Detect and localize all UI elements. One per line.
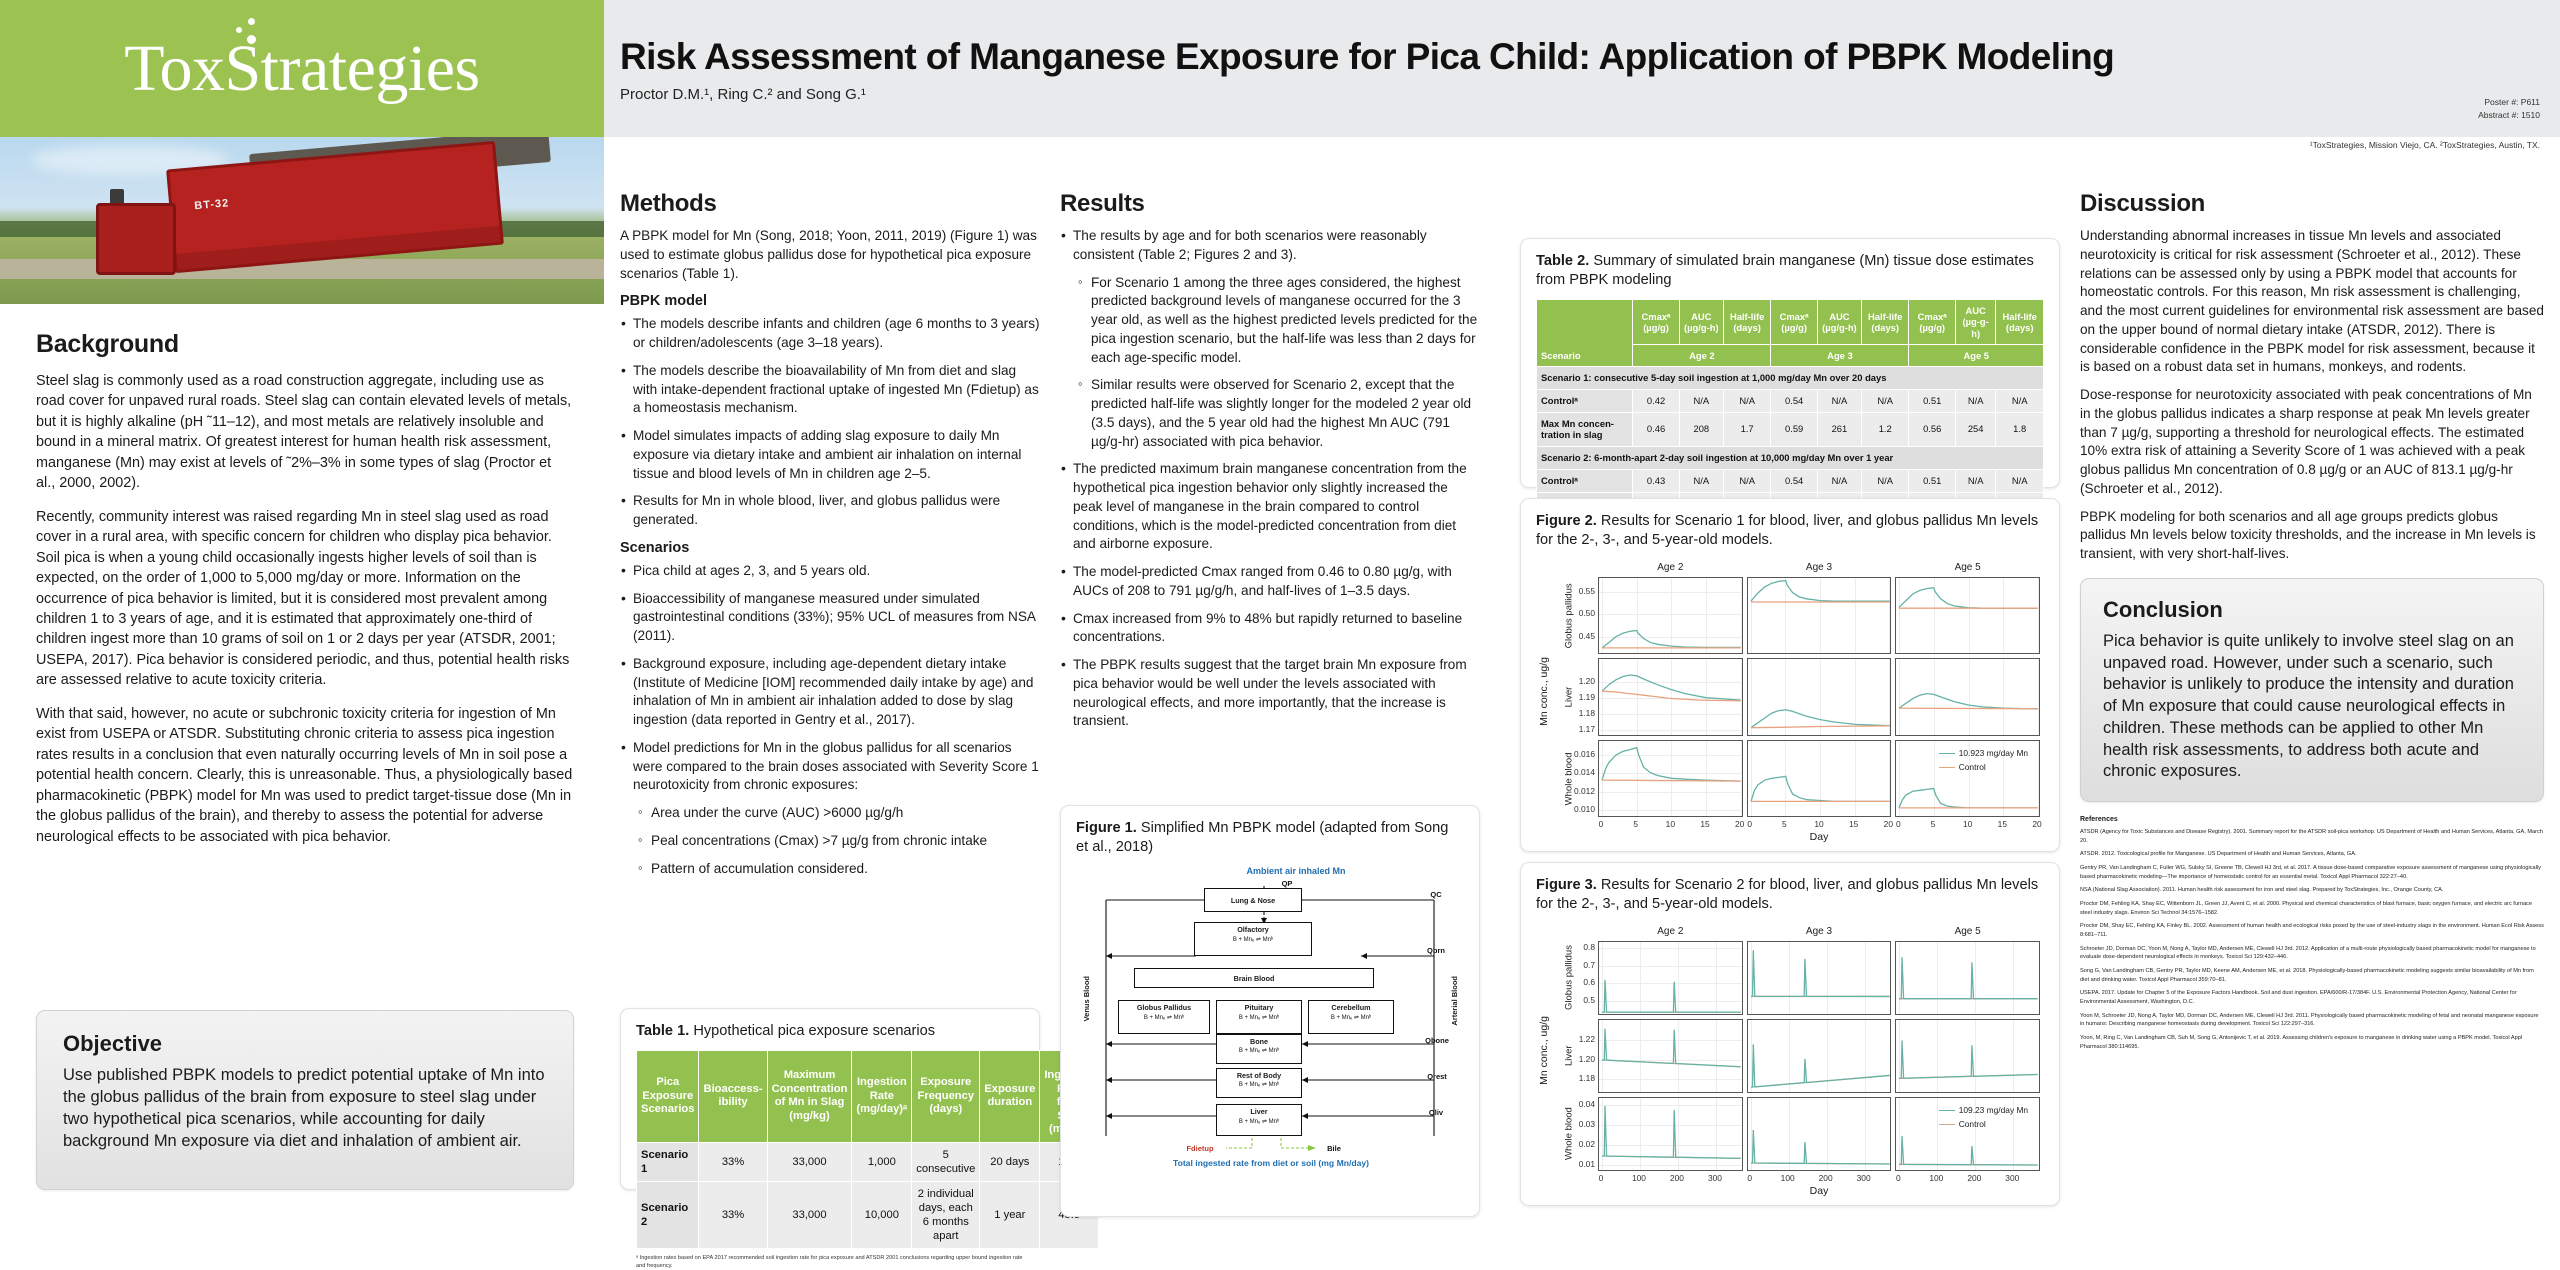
table2-caption: Table 2. Summary of simulated brain mang… <box>1536 252 2044 290</box>
cell: 33% <box>699 1142 767 1181</box>
methods-heading: Methods <box>620 190 1040 218</box>
cell: 208 <box>1679 412 1723 447</box>
y-tick-label: 1.18 <box>1579 1073 1595 1083</box>
box-title: Rest of Body <box>1217 1071 1301 1080</box>
figure2-label: Figure 2. <box>1536 513 1597 529</box>
th-bioaccessibility: Bioaccess-ibility <box>699 1050 767 1142</box>
chart-series <box>1748 659 1893 736</box>
cell: N/A <box>1723 389 1771 412</box>
list-item: The results by age and for both scenario… <box>1060 227 1480 265</box>
x-tick-label: 10 <box>1666 819 1675 829</box>
box-formula: B + Mnₑ ⇌ Mnᵇ <box>1217 1014 1301 1021</box>
cell: N/A <box>1861 389 1909 412</box>
y-tick-label: 0.5 <box>1583 995 1595 1005</box>
total-ingested-label: Total ingested rate from diet or soil (m… <box>1106 1158 1436 1168</box>
facet-row-title: Whole blood <box>1562 1097 1576 1171</box>
x-tick-label: 5 <box>1931 819 1936 829</box>
y-tick-label: 1.18 <box>1579 708 1595 718</box>
th-metric: AUC (µg/g-h) <box>1817 299 1861 344</box>
table2-title: Summary of simulated brain manganese (Mn… <box>1536 253 2034 288</box>
objective-heading: Objective <box>63 1031 547 1057</box>
list-item: Model predictions for Mn in the globus p… <box>620 739 1040 795</box>
list-item: Pica child at ages 2, 3, and 5 years old… <box>620 562 1040 581</box>
reference-item: Yoon M, Schroeter JD, Nong A, Taylor MD,… <box>2080 1012 2544 1029</box>
th-metric: Cmaxᵃ (µg/g) <box>1909 299 1955 344</box>
box-title: Olfactory <box>1195 925 1311 934</box>
y-tick-label: 0.010 <box>1574 804 1595 814</box>
cell: 261 <box>1817 412 1861 447</box>
x-tick-label: 200 <box>1819 1173 1833 1183</box>
table-header-row: Pica Exposure Scenarios Bioaccess-ibilit… <box>637 1050 1099 1142</box>
table1: Pica Exposure Scenarios Bioaccess-ibilit… <box>636 1050 1099 1249</box>
list-item: Peal concentrations (Cmax) >7 µg/g from … <box>638 832 1040 851</box>
x-tick-label: 200 <box>1967 1173 1981 1183</box>
conclusion-box: Conclusion Pica behavior is quite unlike… <box>2080 578 2544 802</box>
cell: 33,000 <box>767 1142 852 1181</box>
table-row: Max Mn concen-tration in slag 0.46 208 1… <box>1537 412 2044 447</box>
list-item: The predicted maximum brain manganese co… <box>1060 460 1480 554</box>
box-lung-nose: Lung & Nose <box>1204 888 1302 912</box>
reference-item: Yoon, M, Ring C, Van Landingham CB, Suh … <box>2080 1034 2544 1051</box>
table-band-row: Scenario 1: consecutive 5-day soil inges… <box>1537 367 2044 390</box>
chart-panel <box>1598 658 1743 735</box>
scenarios-bullet-list: Pica child at ages 2, 3, and 5 years old… <box>620 562 1040 795</box>
row-label: Controlᵃ <box>1537 469 1633 492</box>
cell: 0.43 <box>1633 469 1679 492</box>
y-tick-label: 1.17 <box>1579 724 1595 734</box>
cell: 2 individual days, each 6 months apart <box>912 1181 980 1248</box>
box-liver: Liver B + Mnₑ ⇌ Mnᵇ <box>1216 1104 1302 1136</box>
table1-card: Table 1. Hypothetical pica exposure scen… <box>620 1008 1040 1190</box>
table-row: Controlᵃ 0.42 N/A N/A 0.54 N/A N/A 0.51 … <box>1537 389 2044 412</box>
box-title: Cerebellum <box>1309 1003 1393 1012</box>
box-title: Pituitary <box>1217 1003 1301 1012</box>
methods-column: Methods A PBPK model for Mn (Song, 2018;… <box>620 190 1040 887</box>
legend-item: Control <box>1939 1119 2028 1129</box>
chart-panel <box>1747 1019 1892 1093</box>
references-heading: References <box>2080 816 2544 823</box>
chart-legend: 10.923 mg/day MnControl <box>1939 748 2028 776</box>
figure3-title: Results for Scenario 2 for blood, liver,… <box>1536 877 2038 912</box>
box-olfactory: Olfactory B + Mnₑ ⇌ Mnᵇ <box>1194 922 1312 956</box>
chart-series <box>1896 942 2041 1016</box>
figure1-diagram: Ambient air inhaled Mn QP QC Qbrn Qbone … <box>1076 866 1464 1186</box>
reference-item: Gentry PR, Van Landingham C, Fuller WG, … <box>2080 864 2544 881</box>
box-formula: B + Mnₑ ⇌ Mnᵇ <box>1217 1081 1301 1088</box>
table1-label: Table 1. <box>636 1023 689 1039</box>
poster-root: ToxStrategies BT-32 Background Steel sla… <box>0 0 2560 1234</box>
row-label: Max Mn concen-tration in slag <box>1537 412 1633 447</box>
list-item: Pattern of accumulation considered. <box>638 860 1040 879</box>
th-metric: Cmaxᵃ (µg/g) <box>1633 299 1679 344</box>
x-tick-label: 300 <box>1708 1173 1722 1183</box>
cell: N/A <box>1679 469 1723 492</box>
y-tick-label: 0.8 <box>1583 942 1595 952</box>
table-row: Controlᵃ 0.43 N/A N/A 0.54 N/A N/A 0.51 … <box>1537 469 2044 492</box>
list-item: The model-predicted Cmax ranged from 0.4… <box>1060 563 1480 601</box>
chart-panel <box>1747 740 1892 817</box>
objective-text: Use published PBPK models to predict pot… <box>63 1065 547 1153</box>
list-item: Background exposure, including age-depen… <box>620 655 1040 730</box>
figure2-title: Results for Scenario 1 for blood, liver,… <box>1536 513 2038 548</box>
reference-item: Song G, Van Landingham CB, Gentry PR, Ta… <box>2080 967 2544 984</box>
cell: 0.42 <box>1633 389 1679 412</box>
chart-panel <box>1747 941 1892 1015</box>
y-tick-label: 0.04 <box>1579 1099 1595 1109</box>
background-section: Background Steel slag is commonly used a… <box>36 330 574 860</box>
chart-series <box>1748 942 1893 1016</box>
list-item: The PBPK results suggest that the target… <box>1060 656 1480 731</box>
truck-label: BT-32 <box>194 197 230 212</box>
x-tick-label: 100 <box>1781 1173 1795 1183</box>
cell: 1.2 <box>1861 412 1909 447</box>
chart-series <box>1599 1020 1744 1094</box>
cell: Scenario 2 <box>637 1181 699 1248</box>
facet-col-title: Age 2 <box>1598 926 1743 937</box>
background-paragraph-3: With that said, however, no acute or sub… <box>36 704 574 847</box>
box-formula: B + Mnₑ ⇌ Mnᵇ <box>1119 1014 1209 1021</box>
list-item: The models describe the bioavailability … <box>620 362 1040 418</box>
reference-item: Proctor DM, Fehling KA, Shay EC, Wittenb… <box>2080 900 2544 917</box>
x-tick-label: 20 <box>1884 819 1893 829</box>
th-max-conc: Maximum Concentration of Mn in Slag (mg/… <box>767 1050 852 1142</box>
conclusion-text: Pica behavior is quite unlikely to invol… <box>2103 631 2521 783</box>
box-formula: B + Mnₑ ⇌ Mnᵇ <box>1309 1014 1393 1021</box>
x-tick-label: 0 <box>1599 819 1604 829</box>
results-bullet-list: The results by age and for both scenario… <box>1060 227 1480 265</box>
cell: 0.54 <box>1771 469 1817 492</box>
y-tick-label: 1.20 <box>1579 676 1595 686</box>
band-label: Scenario 2: 6-month-apart 2-day soil ing… <box>1537 447 2044 470</box>
cell: N/A <box>1817 389 1861 412</box>
th-scenario: Scenario <box>1537 299 1633 366</box>
cell: 0.51 <box>1909 469 1955 492</box>
x-tick-label: 15 <box>1700 819 1709 829</box>
y-tick-label: 0.02 <box>1579 1139 1595 1149</box>
reference-item: USEPA. 2017. Update for Chapter 5 of the… <box>2080 989 2544 1006</box>
y-tick-label: 0.6 <box>1583 977 1595 987</box>
facet-col-title: Age 2 <box>1598 562 1743 573</box>
cell: 0.56 <box>1909 412 1955 447</box>
cell: 33% <box>699 1181 767 1248</box>
chart-series <box>1599 659 1744 736</box>
y-tick-label: 1.19 <box>1579 692 1595 702</box>
chart-panel <box>1895 577 2040 654</box>
chart-series <box>1599 741 1744 818</box>
cell: N/A <box>1861 469 1909 492</box>
box-title: Liver <box>1217 1107 1301 1116</box>
chart-panel <box>1747 577 1892 654</box>
chart-panel <box>1895 658 2040 735</box>
bile-label: Bile <box>1314 1144 1354 1153</box>
x-tick-label: 5 <box>1782 819 1787 829</box>
abstract-number: Abstract #: 1510 <box>2478 109 2540 122</box>
page-title: Risk Assessment of Manganese Exposure fo… <box>620 36 2114 78</box>
legend-item: 10.923 mg/day Mn <box>1939 748 2028 758</box>
facet-col-title: Age 5 <box>1895 562 2040 573</box>
background-paragraph-2: Recently, community interest was raised … <box>36 507 574 691</box>
cell: 1 year <box>980 1181 1040 1248</box>
x-tick-label: 10 <box>1814 819 1823 829</box>
discussion-paragraph-2: Dose-response for neurotoxicity associat… <box>2080 386 2544 499</box>
th-exposure-duration: Exposure duration <box>980 1050 1040 1142</box>
table-row: Scenario 2 33% 33,000 10,000 2 individua… <box>637 1181 1099 1248</box>
cell: 0.59 <box>1771 412 1817 447</box>
x-tick-label: 0 <box>1896 819 1901 829</box>
th-age-5: Age 5 <box>1909 344 2044 366</box>
chart-series <box>1896 578 2041 655</box>
cell: N/A <box>1996 389 2044 412</box>
figure3-label: Figure 3. <box>1536 877 1597 893</box>
y-tick-label: 0.016 <box>1574 749 1595 759</box>
facet-row-title: Liver <box>1562 1019 1576 1093</box>
reference-item: Schroeter JD, Dorman DC, Yoon M, Nong A,… <box>2080 945 2544 962</box>
th-metric: AUC (µg/g-h) <box>1679 299 1723 344</box>
chart-series <box>1599 942 1744 1016</box>
box-title: Brain Blood <box>1135 974 1373 983</box>
figure3-card: Figure 3. Results for Scenario 2 for blo… <box>1520 862 2060 1206</box>
box-formula: B + Mnₑ ⇌ Mnᵇ <box>1217 1047 1301 1054</box>
x-tick-label: 0 <box>1747 819 1752 829</box>
x-tick-label: 10 <box>1963 819 1972 829</box>
figure3-plot: Mn conc., ug/gAge 2Age 3Age 5Globus pall… <box>1536 923 2046 1201</box>
x-tick-label: 15 <box>1849 819 1858 829</box>
y-tick-label: 1.22 <box>1579 1034 1595 1044</box>
list-item: Area under the curve (AUC) >6000 µg/g/h <box>638 804 1040 823</box>
reference-item: NSA (National Slag Association). 2011. H… <box>2080 886 2544 895</box>
facet-row-title: Liver <box>1562 658 1576 735</box>
chart-series <box>1599 1098 1744 1172</box>
dump-truck-photo: BT-32 <box>0 137 604 304</box>
figure1-card: Figure 1. Simplified Mn PBPK model (adap… <box>1060 805 1480 1217</box>
th-age-3: Age 3 <box>1771 344 1909 366</box>
y-axis-label: Mn conc., ug/g <box>1538 1016 1550 1085</box>
table2: Scenario Cmaxᵃ (µg/g) AUC (µg/g-h) Half-… <box>1536 299 2044 527</box>
y-tick-label: 0.50 <box>1579 608 1595 618</box>
chart-panel <box>1895 1019 2040 1093</box>
chart-panel <box>1598 577 1743 654</box>
y-tick-label: 0.03 <box>1579 1119 1595 1129</box>
references-section: References ATSDR (Agency for Toxic Subst… <box>2080 816 2544 1051</box>
table-row: Scenario 1 33% 33,000 1,000 5 consecutiv… <box>637 1142 1099 1181</box>
chart-panel <box>1747 658 1892 735</box>
table2-card: Table 2. Summary of simulated brain mang… <box>1520 238 2060 488</box>
th-pica-scenarios: Pica Exposure Scenarios <box>637 1050 699 1142</box>
results-bullet-list-2: The predicted maximum brain manganese co… <box>1060 460 1480 731</box>
discussion-paragraph-3: PBPK modeling for both scenarios and all… <box>2080 508 2544 564</box>
th-age-2: Age 2 <box>1633 344 1771 366</box>
table1-caption: Table 1. Hypothetical pica exposure scen… <box>636 1022 1024 1041</box>
row-label: Controlᵃ <box>1537 389 1633 412</box>
list-item: Results for Mn in whole blood, liver, an… <box>620 492 1040 530</box>
y-tick-label: 0.7 <box>1583 960 1595 970</box>
box-cerebellum: Cerebellum B + Mnₑ ⇌ Mnᵇ <box>1308 1000 1394 1034</box>
discussion-paragraph-1: Understanding abnormal increases in tiss… <box>2080 227 2544 377</box>
discussion-column: Discussion Understanding abnormal increa… <box>2080 190 2544 1056</box>
legend-item: 109.23 mg/day Mn <box>1939 1105 2028 1115</box>
author-list: Proctor D.M.¹, Ring C.² and Song G.¹ <box>620 86 866 103</box>
reference-item: ATSDR (Agency for Toxic Substances and D… <box>2080 828 2544 845</box>
scenarios-subheading: Scenarios <box>620 540 1040 556</box>
x-tick-label: 100 <box>1929 1173 1943 1183</box>
box-title: Lung & Nose <box>1205 896 1301 905</box>
results-column: Results The results by age and for both … <box>1060 190 1480 740</box>
chart-series <box>1599 578 1744 655</box>
facet-col-title: Age 5 <box>1895 926 2040 937</box>
th-exposure-frequency: Exposure Frequency (days) <box>912 1050 980 1142</box>
chart-panel <box>1598 1019 1743 1093</box>
cell: N/A <box>1955 389 1995 412</box>
pbpk-model-subheading: PBPK model <box>620 293 1040 309</box>
affiliations: ¹ToxStrategies, Mission Viejo, CA. ²ToxS… <box>604 140 2560 150</box>
chart-panel <box>1895 941 2040 1015</box>
truck-cab <box>96 203 176 275</box>
y-tick-label: 1.20 <box>1579 1054 1595 1064</box>
pbpk-bullet-list: The models describe infants and children… <box>620 315 1040 530</box>
brand-bar: ToxStrategies <box>0 0 604 137</box>
figure2-caption: Figure 2. Results for Scenario 1 for blo… <box>1536 512 2044 550</box>
table-header-row: Scenario Cmaxᵃ (µg/g) AUC (µg/g-h) Half-… <box>1537 299 2044 344</box>
toxstrategies-logo: ToxStrategies <box>124 36 479 102</box>
table2-label: Table 2. <box>1536 253 1589 269</box>
figure2-card: Figure 2. Results for Scenario 1 for blo… <box>1520 498 2060 852</box>
cell: 0.54 <box>1771 389 1817 412</box>
facet-col-title: Age 3 <box>1747 562 1892 573</box>
box-title: Globus Pallidus <box>1119 1003 1209 1012</box>
y-tick-label: 0.012 <box>1574 786 1595 796</box>
poster-number: Poster #: P611 <box>2478 96 2540 109</box>
th-metric: Cmaxᵃ (µg/g) <box>1771 299 1817 344</box>
th-metric: AUC (µg-g-h) <box>1955 299 1995 344</box>
table1-footnote: ᵃ Ingestion rates based on EPA 2017 reco… <box>636 1254 1024 1270</box>
chart-panel <box>1598 740 1743 817</box>
band-label: Scenario 1: consecutive 5-day soil inges… <box>1537 367 2044 390</box>
box-rest-of-body: Rest of Body B + Mnₑ ⇌ Mnᵇ <box>1216 1068 1302 1098</box>
box-pituitary: Pituitary B + Mnₑ ⇌ Mnᵇ <box>1216 1000 1302 1034</box>
list-item: The models describe infants and children… <box>620 315 1040 353</box>
chart-series <box>1896 659 2041 736</box>
poster-identifiers: Poster #: P611 Abstract #: 1510 <box>2478 96 2540 122</box>
chart-series <box>1748 1020 1893 1094</box>
logo-strategies-text: Strategies <box>224 32 479 105</box>
cell: 0.51 <box>1909 389 1955 412</box>
cell: 33,000 <box>767 1181 852 1248</box>
x-tick-label: 5 <box>1633 819 1638 829</box>
th-metric: Half-life (days) <box>1861 299 1909 344</box>
x-tick-label: 15 <box>1998 819 2007 829</box>
reference-item: Proctor DM, Shay EC, Fehling KA, Finley … <box>2080 922 2544 939</box>
figure2-plot: Mn conc., ug/gAge 2Age 3Age 5Globus pall… <box>1536 559 2046 847</box>
list-item: Cmax increased from 9% to 48% but rapidl… <box>1060 610 1480 648</box>
cell: 0.46 <box>1633 412 1679 447</box>
conclusion-heading: Conclusion <box>2103 597 2521 623</box>
cell: 254 <box>1955 412 1995 447</box>
table-band-row: Scenario 2: 6-month-apart 2-day soil ing… <box>1537 447 2044 470</box>
cell: 10,000 <box>852 1181 912 1248</box>
figure1-label: Figure 1. <box>1076 820 1137 836</box>
th-metric: Half-life (days) <box>1996 299 2044 344</box>
chart-series <box>1748 741 1893 818</box>
x-tick-label: 20 <box>1735 819 1744 829</box>
x-axis-label: Day <box>1598 831 2040 843</box>
th-metric: Half-life (days) <box>1723 299 1771 344</box>
chart-series <box>1896 1020 2041 1094</box>
left-column: ToxStrategies BT-32 Background Steel sla… <box>0 0 604 1234</box>
th-ingestion-rate: Ingestion Rate (mg/day)ᵃ <box>852 1050 912 1142</box>
logo-tox-text: Tox <box>124 32 224 105</box>
x-tick-label: 20 <box>2032 819 2041 829</box>
y-axis-label: Mn conc., ug/g <box>1538 657 1550 726</box>
cell: 1.8 <box>1996 412 2044 447</box>
x-axis-label: Day <box>1598 1185 2040 1197</box>
list-item: Model simulates impacts of adding slag e… <box>620 427 1040 483</box>
x-tick-label: 100 <box>1632 1173 1646 1183</box>
facet-col-title: Age 3 <box>1747 926 1892 937</box>
cell: 1,000 <box>852 1142 912 1181</box>
list-item: For Scenario 1 among the three ages cons… <box>1078 274 1480 368</box>
methods-intro: A PBPK model for Mn (Song, 2018; Yoon, 2… <box>620 227 1040 283</box>
box-brain-blood: Brain Blood <box>1134 968 1374 988</box>
cell: 1.7 <box>1723 412 1771 447</box>
cell: Scenario 1 <box>637 1142 699 1181</box>
box-formula: B + Mnₑ ⇌ Mnᵇ <box>1217 1118 1301 1125</box>
x-tick-label: 200 <box>1670 1173 1684 1183</box>
box-title: Bone <box>1217 1037 1301 1046</box>
poster-header: Risk Assessment of Manganese Exposure fo… <box>604 0 2560 137</box>
y-tick-label: 0.45 <box>1579 631 1595 641</box>
chart-series <box>1748 578 1893 655</box>
results-heading: Results <box>1060 190 1480 218</box>
cell: N/A <box>1723 469 1771 492</box>
cell: N/A <box>1955 469 1995 492</box>
y-tick-label: 0.01 <box>1579 1159 1595 1169</box>
box-formula: B + Mnₑ ⇌ Mnᵇ <box>1195 936 1311 943</box>
x-tick-label: 0 <box>1747 1173 1752 1183</box>
chart-series <box>1748 1098 1893 1172</box>
figure1-caption: Figure 1. Simplified Mn PBPK model (adap… <box>1076 819 1464 857</box>
chart-legend: 109.23 mg/day MnControl <box>1939 1105 2028 1133</box>
y-tick-label: 0.55 <box>1579 586 1595 596</box>
list-item: Similar results were observed for Scenar… <box>1078 376 1480 451</box>
results-sublist: For Scenario 1 among the three ages cons… <box>1060 274 1480 452</box>
legend-item: Control <box>1939 762 2028 772</box>
x-tick-label: 0 <box>1896 1173 1901 1183</box>
background-heading: Background <box>36 330 574 359</box>
severity-score-sublist: Area under the curve (AUC) >6000 µg/g/h … <box>620 804 1040 878</box>
x-tick-label: 0 <box>1599 1173 1604 1183</box>
objective-box: Objective Use published PBPK models to p… <box>36 1010 574 1190</box>
fdietup-label: Fdietup <box>1172 1144 1228 1153</box>
background-paragraph-1: Steel slag is commonly used as a road co… <box>36 371 574 494</box>
figure3-caption: Figure 3. Results for Scenario 2 for blo… <box>1536 876 2044 914</box>
cell: N/A <box>1817 469 1861 492</box>
facet-row-title: Globus pallidus <box>1562 577 1576 654</box>
y-tick-label: 0.014 <box>1574 767 1595 777</box>
facet-row-title: Globus pallidus <box>1562 941 1576 1015</box>
cell: N/A <box>1996 469 2044 492</box>
chart-panel <box>1598 1097 1743 1171</box>
chart-panel <box>1747 1097 1892 1171</box>
cell: 5 consecutive <box>912 1142 980 1181</box>
x-tick-label: 300 <box>2005 1173 2019 1183</box>
cell: 20 days <box>980 1142 1040 1181</box>
discussion-heading: Discussion <box>2080 190 2544 218</box>
box-bone: Bone B + Mnₑ ⇌ Mnᵇ <box>1216 1034 1302 1064</box>
box-globus-pallidus: Globus Pallidus B + Mnₑ ⇌ Mnᵇ <box>1118 1000 1210 1034</box>
x-tick-label: 300 <box>1857 1173 1871 1183</box>
list-item: Bioaccessibility of manganese measured u… <box>620 590 1040 646</box>
cell: N/A <box>1679 389 1723 412</box>
